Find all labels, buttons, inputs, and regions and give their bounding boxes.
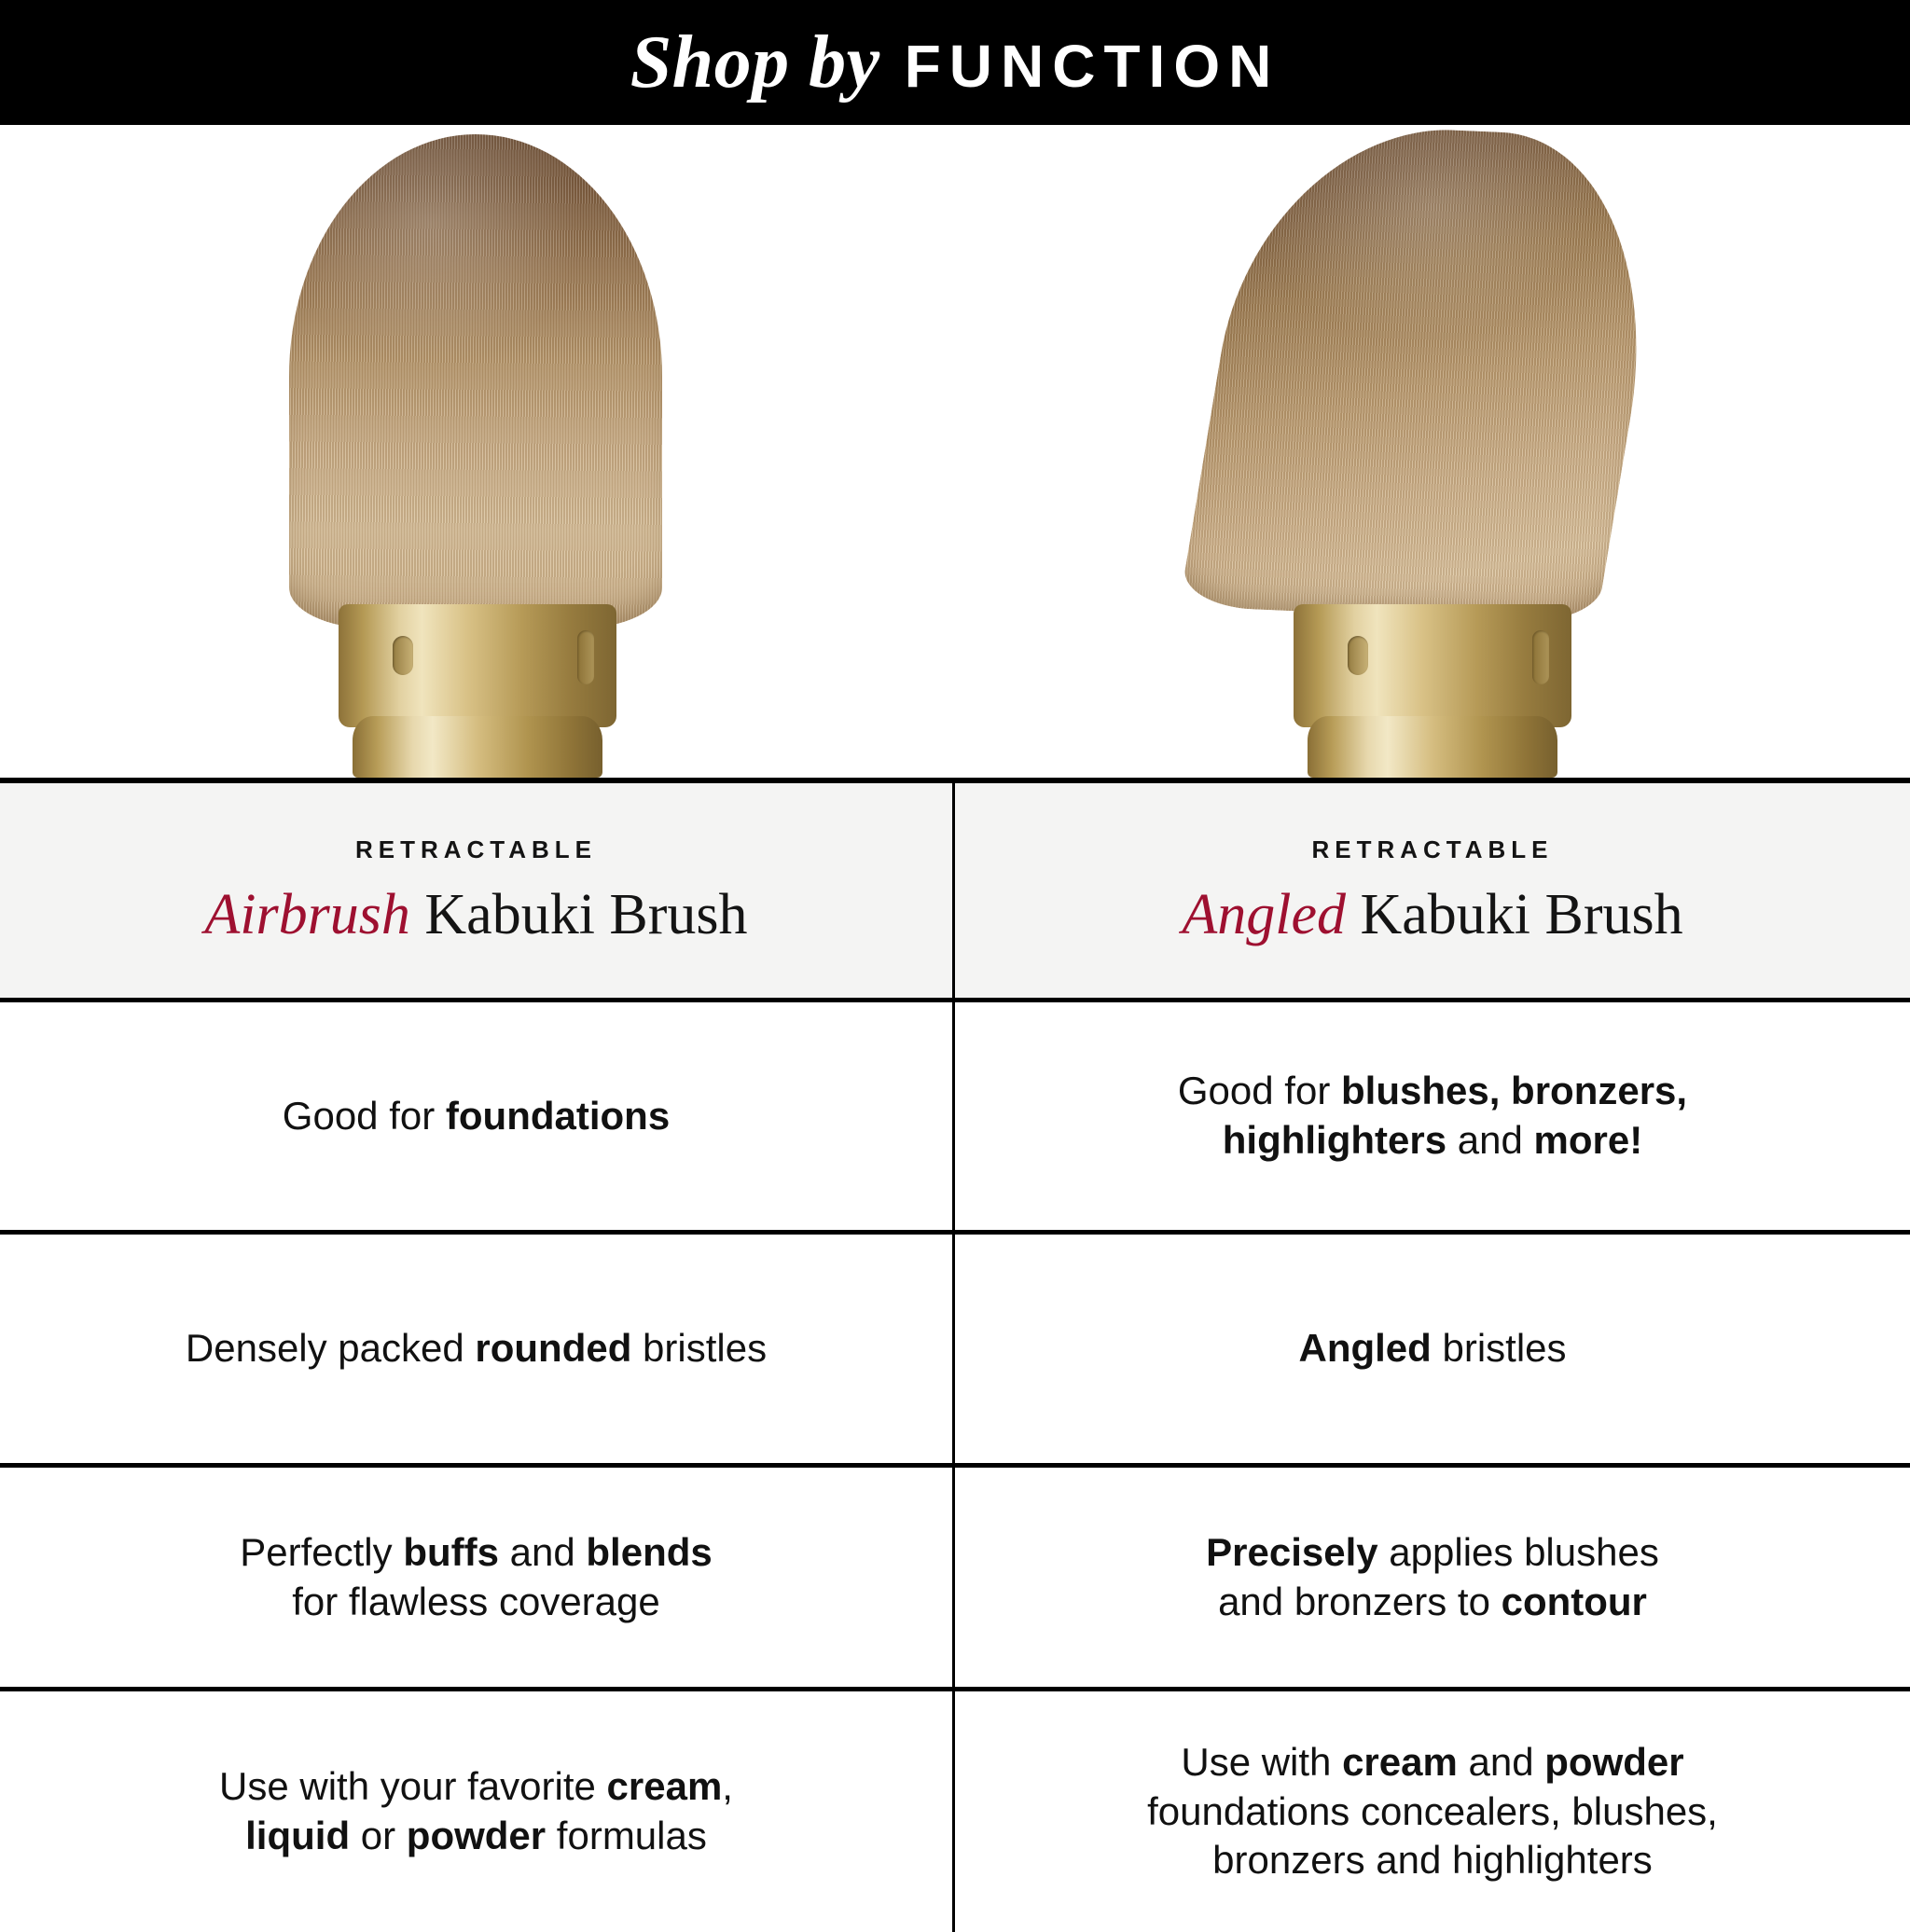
feature-run: and: [1446, 1118, 1533, 1162]
feature-text: Good for foundations: [283, 1092, 670, 1141]
feature-run: bristles: [631, 1326, 767, 1370]
feature-run: and bronzers to: [1218, 1580, 1502, 1623]
feature-line: highlighters and more!: [1178, 1116, 1687, 1166]
product-name-accent: Airbrush: [204, 883, 409, 946]
feature-run: bristles: [1432, 1326, 1567, 1370]
product-header-airbrush[interactable]: RETRACTABLE Airbrush Kabuki Brush: [0, 783, 955, 998]
gold-collar: [353, 716, 602, 778]
product-name: Airbrush Kabuki Brush: [204, 885, 747, 946]
feature-line: Perfectly buffs and blends: [240, 1528, 713, 1578]
feature-run: Use with: [1181, 1740, 1342, 1784]
feature-line: bronzers and highlighters: [1147, 1836, 1718, 1885]
feature-emphasis: powder: [1544, 1740, 1683, 1784]
shop-by-function-page: Shop by FUNCTION: [0, 0, 1910, 1910]
feature-line: foundations concealers, blushes,: [1147, 1787, 1718, 1837]
page-title-caps: FUNCTION: [905, 32, 1280, 101]
feature-line: liquid or powder formulas: [219, 1812, 733, 1861]
table-row-titles: RETRACTABLE Airbrush Kabuki Brush RETRAC…: [0, 778, 1910, 998]
gold-ferrule: [339, 604, 616, 727]
table-row: Good for foundations Good for blushes, b…: [0, 998, 1910, 1230]
feature-emphasis: contour: [1502, 1580, 1647, 1623]
feature-cell: Good for blushes, bronzers,highlighters …: [955, 1002, 1910, 1230]
feature-cell: Perfectly buffs and blendsfor flawless c…: [0, 1468, 955, 1687]
feature-emphasis: blends: [586, 1530, 712, 1574]
feature-line: Good for foundations: [283, 1092, 670, 1141]
feature-cell: Good for foundations: [0, 1002, 955, 1230]
feature-line: Precisely applies blushes: [1206, 1528, 1659, 1578]
feature-emphasis: Precisely: [1206, 1530, 1378, 1574]
product-eyebrow: RETRACTABLE: [1311, 835, 1553, 864]
page-title: Shop by FUNCTION: [630, 21, 1280, 105]
ferrule-edge-highlight: [1532, 630, 1549, 684]
feature-run: and: [499, 1530, 586, 1574]
product-image-angled[interactable]: [955, 125, 1910, 778]
feature-line: Angled bristles: [1298, 1324, 1566, 1373]
feature-emphasis: blushes, bronzers,: [1341, 1069, 1687, 1112]
ferrule-edge-highlight: [577, 630, 594, 684]
feature-emphasis: powder: [407, 1814, 546, 1857]
feature-run: applies blushes: [1378, 1530, 1659, 1574]
feature-run: Good for: [1178, 1069, 1341, 1112]
feature-emphasis: Angled: [1298, 1326, 1431, 1370]
feature-text: Use with your favorite cream,liquid or p…: [219, 1762, 733, 1861]
feature-run: Good for: [283, 1094, 446, 1138]
angled-bristles: [1179, 125, 1677, 625]
feature-emphasis: buffs: [403, 1530, 499, 1574]
feature-emphasis: foundations: [446, 1094, 670, 1138]
gold-ferrule: [1294, 604, 1571, 727]
feature-run: Densely packed: [186, 1326, 476, 1370]
feature-run: or: [350, 1814, 407, 1857]
feature-cell: Densely packed rounded bristles: [0, 1235, 955, 1463]
feature-text: Precisely applies blushesand bronzers to…: [1206, 1528, 1659, 1627]
product-eyebrow: RETRACTABLE: [355, 835, 597, 864]
feature-emphasis: cream: [1342, 1740, 1458, 1784]
feature-line: for flawless coverage: [240, 1578, 713, 1627]
feature-run: bronzers and highlighters: [1212, 1838, 1653, 1882]
feature-line: and bronzers to contour: [1206, 1578, 1659, 1627]
feature-emphasis: highlighters: [1223, 1118, 1446, 1162]
feature-text: Perfectly buffs and blendsfor flawless c…: [240, 1528, 713, 1627]
feature-emphasis: rounded: [475, 1326, 631, 1370]
feature-run: foundations concealers, blushes,: [1147, 1789, 1718, 1833]
feature-line: Use with cream and powder: [1147, 1738, 1718, 1787]
ferrule-detent-icon: [393, 636, 413, 675]
feature-cell: Angled bristles: [955, 1235, 1910, 1463]
feature-cell: Precisely applies blushesand bronzers to…: [955, 1468, 1910, 1687]
product-name-rest: Kabuki Brush: [424, 883, 747, 946]
feature-text: Use with cream and powderfoundations con…: [1147, 1738, 1718, 1886]
gold-collar: [1308, 716, 1557, 778]
table-row: Perfectly buffs and blendsfor flawless c…: [0, 1463, 1910, 1687]
product-header-angled[interactable]: RETRACTABLE Angled Kabuki Brush: [955, 783, 1910, 998]
product-image-airbrush[interactable]: [0, 125, 955, 778]
feature-cell: Use with your favorite cream,liquid or p…: [0, 1691, 955, 1932]
feature-line: Good for blushes, bronzers,: [1178, 1067, 1687, 1116]
product-name-accent: Angled: [1182, 883, 1346, 946]
feature-text: Good for blushes, bronzers,highlighters …: [1178, 1067, 1687, 1166]
feature-cell: Use with cream and powderfoundations con…: [955, 1691, 1910, 1932]
feature-run: Use with your favorite: [219, 1764, 607, 1808]
feature-line: Densely packed rounded bristles: [186, 1324, 767, 1373]
feature-run: for flawless coverage: [292, 1580, 660, 1623]
comparison-table: RETRACTABLE Airbrush Kabuki Brush RETRAC…: [0, 778, 1910, 1932]
feature-emphasis: liquid: [245, 1814, 350, 1857]
airbrush-kabuki-brush-illustration: [282, 125, 673, 778]
ferrule-detent-icon: [1348, 636, 1368, 675]
feature-run: formulas: [546, 1814, 707, 1857]
feature-text: Angled bristles: [1298, 1324, 1566, 1373]
rounded-bristles: [289, 134, 662, 628]
feature-emphasis: cream: [607, 1764, 723, 1808]
product-images: [0, 125, 1910, 778]
table-row: Densely packed rounded bristles Angled b…: [0, 1230, 1910, 1463]
feature-text: Densely packed rounded bristles: [186, 1324, 767, 1373]
page-header: Shop by FUNCTION: [0, 0, 1910, 125]
product-name-rest: Kabuki Brush: [1360, 883, 1682, 946]
page-title-script: Shop by: [630, 21, 880, 105]
feature-run: and: [1458, 1740, 1544, 1784]
feature-line: Use with your favorite cream,: [219, 1762, 733, 1812]
feature-run: ,: [722, 1764, 733, 1808]
feature-emphasis: more!: [1534, 1118, 1643, 1162]
angled-kabuki-brush-illustration: [1209, 125, 1656, 778]
feature-run: Perfectly: [240, 1530, 403, 1574]
table-row: Use with your favorite cream,liquid or p…: [0, 1687, 1910, 1932]
product-name: Angled Kabuki Brush: [1182, 885, 1682, 946]
